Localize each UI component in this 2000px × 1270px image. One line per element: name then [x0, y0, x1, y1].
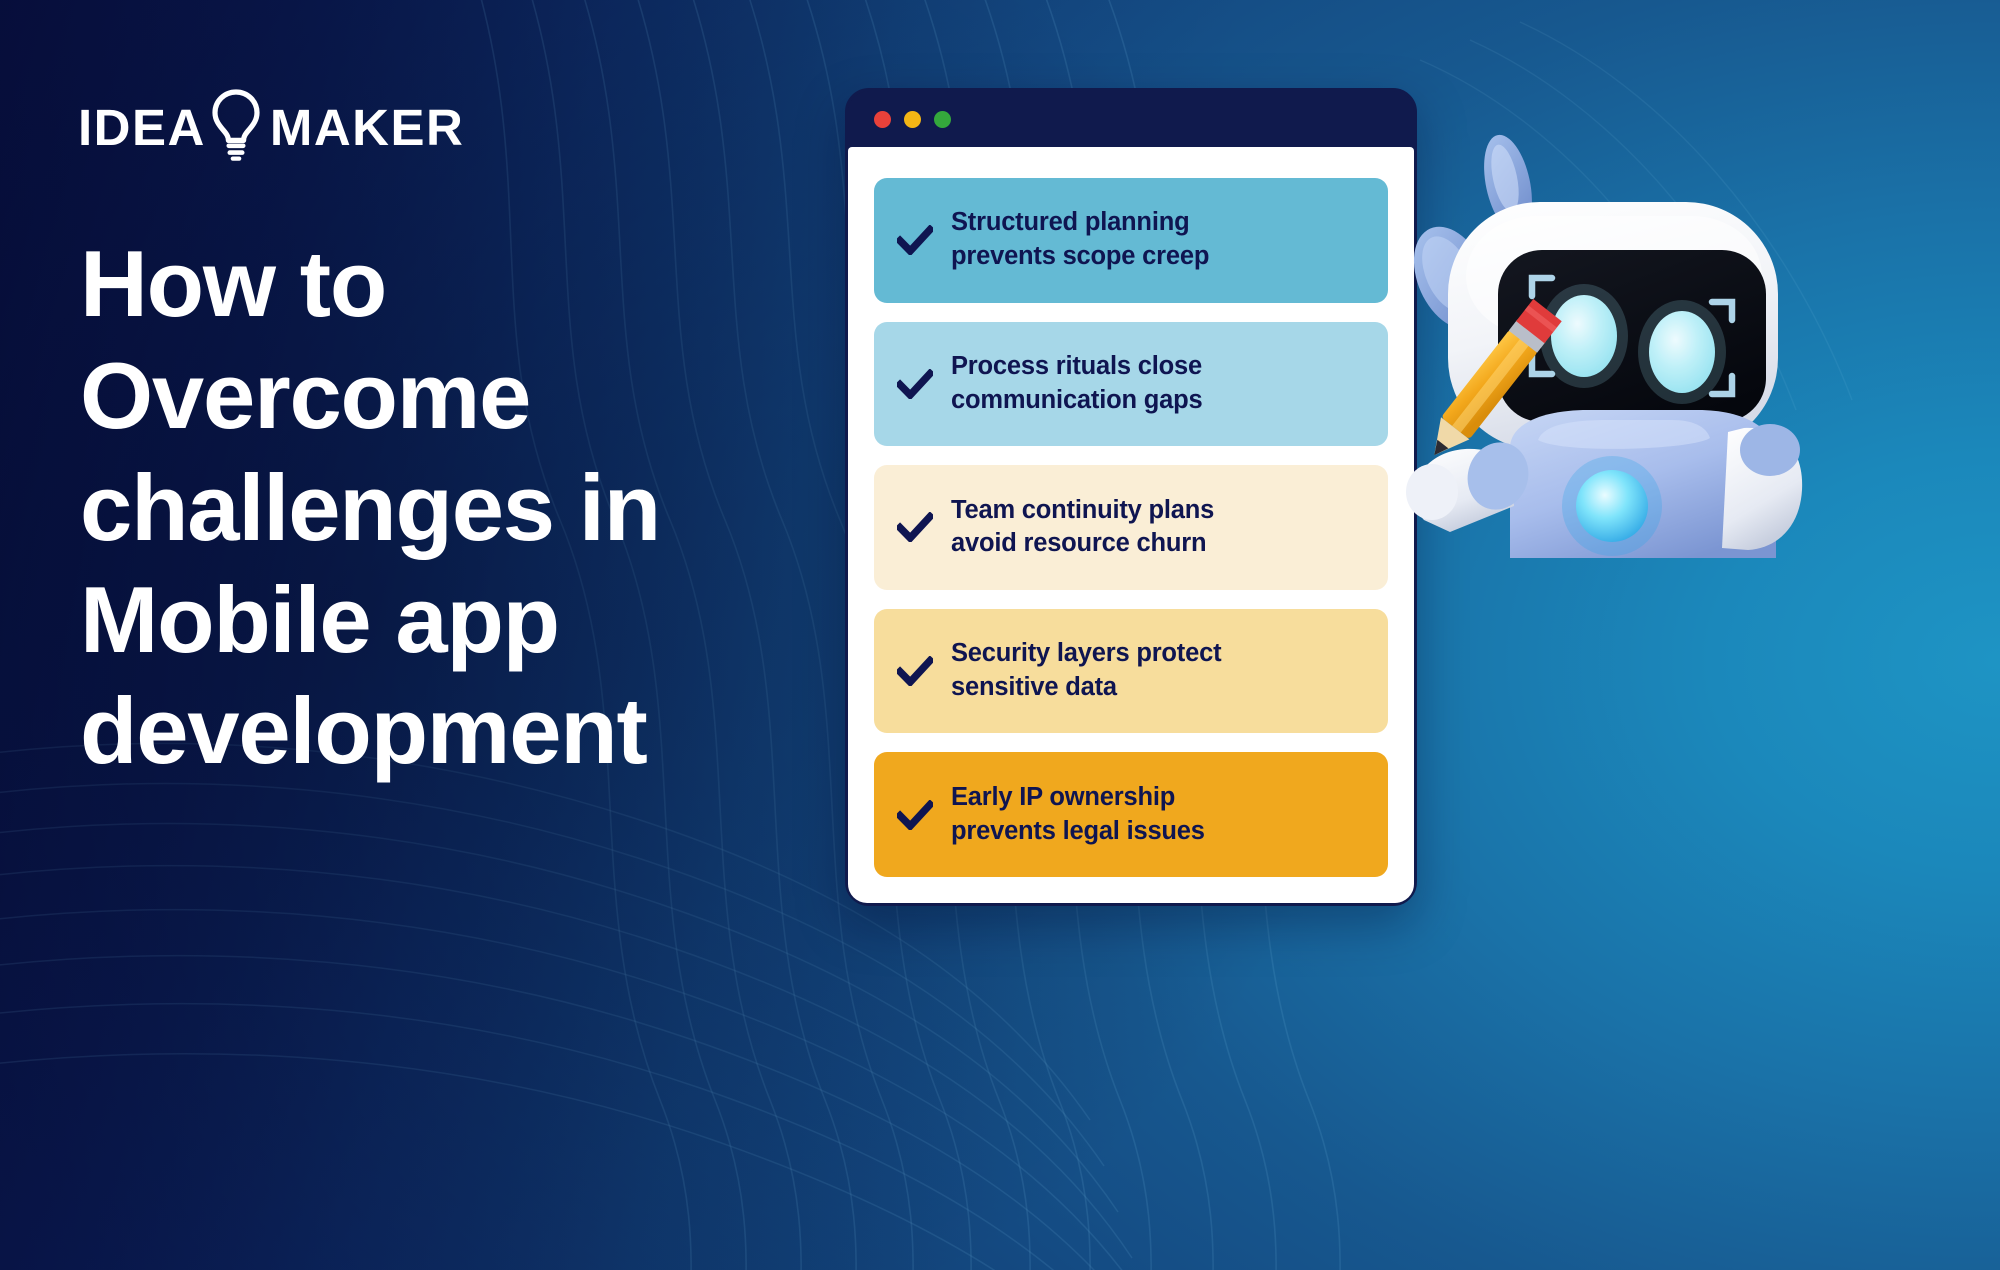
checklist-item-text: Security layers protect sensitive data [951, 637, 1221, 705]
brand-logo[interactable]: IDEA MAKER [78, 88, 464, 167]
window-minimize-dot[interactable] [904, 111, 921, 128]
checklist-item-text: Team continuity plans avoid resource chu… [951, 494, 1214, 562]
brand-word-idea: IDEA [78, 102, 206, 153]
headline-line-1: How to [80, 228, 820, 340]
checklist-item[interactable]: Security layers protect sensitive data [874, 609, 1388, 734]
check-icon [896, 512, 934, 542]
check-icon [896, 800, 934, 830]
checklist-item-line-1: Team continuity plans [951, 494, 1214, 528]
checklist-item-text: Structured planning prevents scope creep [951, 206, 1209, 274]
checklist-item-text: Early IP ownership prevents legal issues [951, 781, 1205, 849]
checklist-item-line-1: Process rituals close [951, 350, 1202, 384]
headline-line-4: Mobile app [80, 564, 820, 676]
checklist-item-text: Process rituals close communication gaps [951, 350, 1202, 418]
checklist-item[interactable]: Team continuity plans avoid resource chu… [874, 465, 1388, 590]
lightbulb-icon [210, 88, 262, 167]
checklist-item-line-2: sensitive data [951, 671, 1221, 705]
checklist-item[interactable]: Process rituals close communication gaps [874, 322, 1388, 447]
check-icon [896, 225, 934, 255]
headline-line-5: development [80, 675, 820, 787]
checklist-item-line-1: Early IP ownership [951, 781, 1205, 815]
checklist-container: Structured planning prevents scope creep… [848, 147, 1414, 903]
checklist-item[interactable]: Early IP ownership prevents legal issues [874, 752, 1388, 877]
check-icon [896, 369, 934, 399]
headline-line-3: challenges in [80, 452, 820, 564]
browser-window-mockup: Structured planning prevents scope creep… [845, 88, 1417, 906]
checklist-item-line-2: prevents scope creep [951, 240, 1209, 274]
checklist-item[interactable]: Structured planning prevents scope creep [874, 178, 1388, 303]
window-close-dot[interactable] [874, 111, 891, 128]
check-icon [896, 656, 934, 686]
checklist-item-line-2: communication gaps [951, 384, 1202, 418]
checklist-item-line-1: Security layers protect [951, 637, 1221, 671]
brand-word-maker: MAKER [270, 102, 465, 153]
checklist-item-line-2: prevents legal issues [951, 815, 1205, 849]
checklist-item-line-1: Structured planning [951, 206, 1209, 240]
page-title: How to Overcome challenges in Mobile app… [80, 228, 820, 787]
headline-line-2: Overcome [80, 340, 820, 452]
window-maximize-dot[interactable] [934, 111, 951, 128]
browser-title-bar [848, 91, 1414, 147]
checklist-item-line-2: avoid resource churn [951, 527, 1214, 561]
